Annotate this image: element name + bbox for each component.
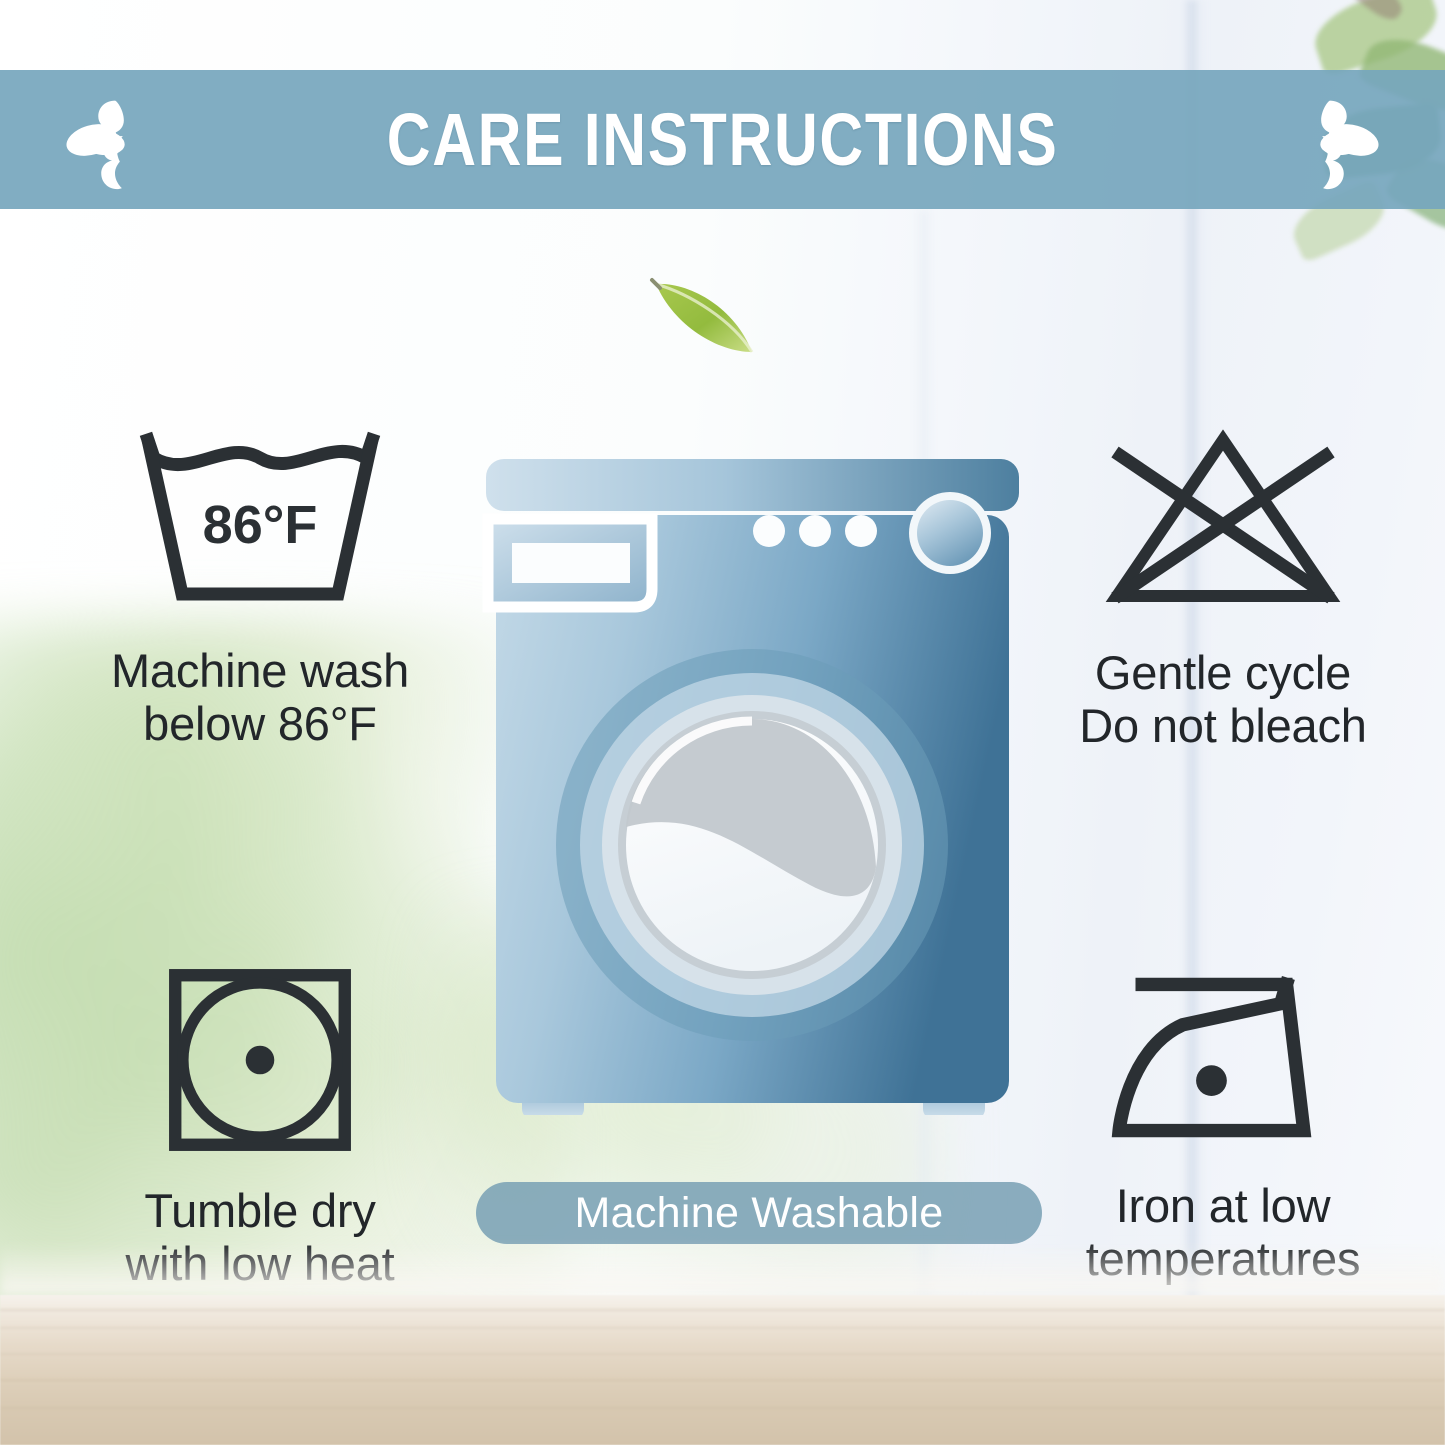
- care-symbol-caption: Gentle cycle Do not bleach: [1008, 647, 1438, 752]
- indicator-light: [845, 515, 877, 547]
- fleur-de-lis-icon: [1271, 81, 1389, 199]
- wooden-table-surface: [0, 1295, 1445, 1445]
- fleur-de-lis-icon: [56, 81, 174, 199]
- washing-machine-illustration: [480, 455, 1025, 1115]
- machine-washable-badge: Machine Washable: [476, 1182, 1042, 1244]
- wash-temperature-value: 86°F: [203, 495, 318, 555]
- care-symbol-do-not-bleach: Gentle cycle Do not bleach: [1008, 418, 1438, 752]
- drawer-handle-slot: [512, 543, 630, 583]
- badge-label: Machine Washable: [575, 1189, 944, 1238]
- tumble-dry-square-circle-icon: [40, 960, 480, 1165]
- control-knob: [917, 500, 983, 566]
- header-banner: CARE INSTRUCTIONS: [0, 70, 1445, 209]
- table-top-glow: [0, 1243, 1445, 1295]
- iron-icon: [1008, 960, 1438, 1160]
- triangle-crossed-out-icon: [1008, 418, 1438, 623]
- care-symbol-caption: Machine wash below 86°F: [40, 645, 480, 750]
- care-instructions-infographic: CARE INSTRUCTIONS: [0, 0, 1445, 1445]
- wash-tub-icon: 86°F: [40, 418, 480, 623]
- indicator-light: [753, 515, 785, 547]
- care-symbol-tumble-dry: Tumble dry with low heat: [40, 960, 480, 1290]
- care-symbol-machine-wash: 86°F Machine wash below 86°F: [40, 418, 480, 750]
- indicator-light: [799, 515, 831, 547]
- floating-leaf-icon: [648, 272, 768, 364]
- page-title: CARE INSTRUCTIONS: [387, 103, 1059, 177]
- care-symbol-iron-low: Iron at low temperatures: [1008, 960, 1438, 1285]
